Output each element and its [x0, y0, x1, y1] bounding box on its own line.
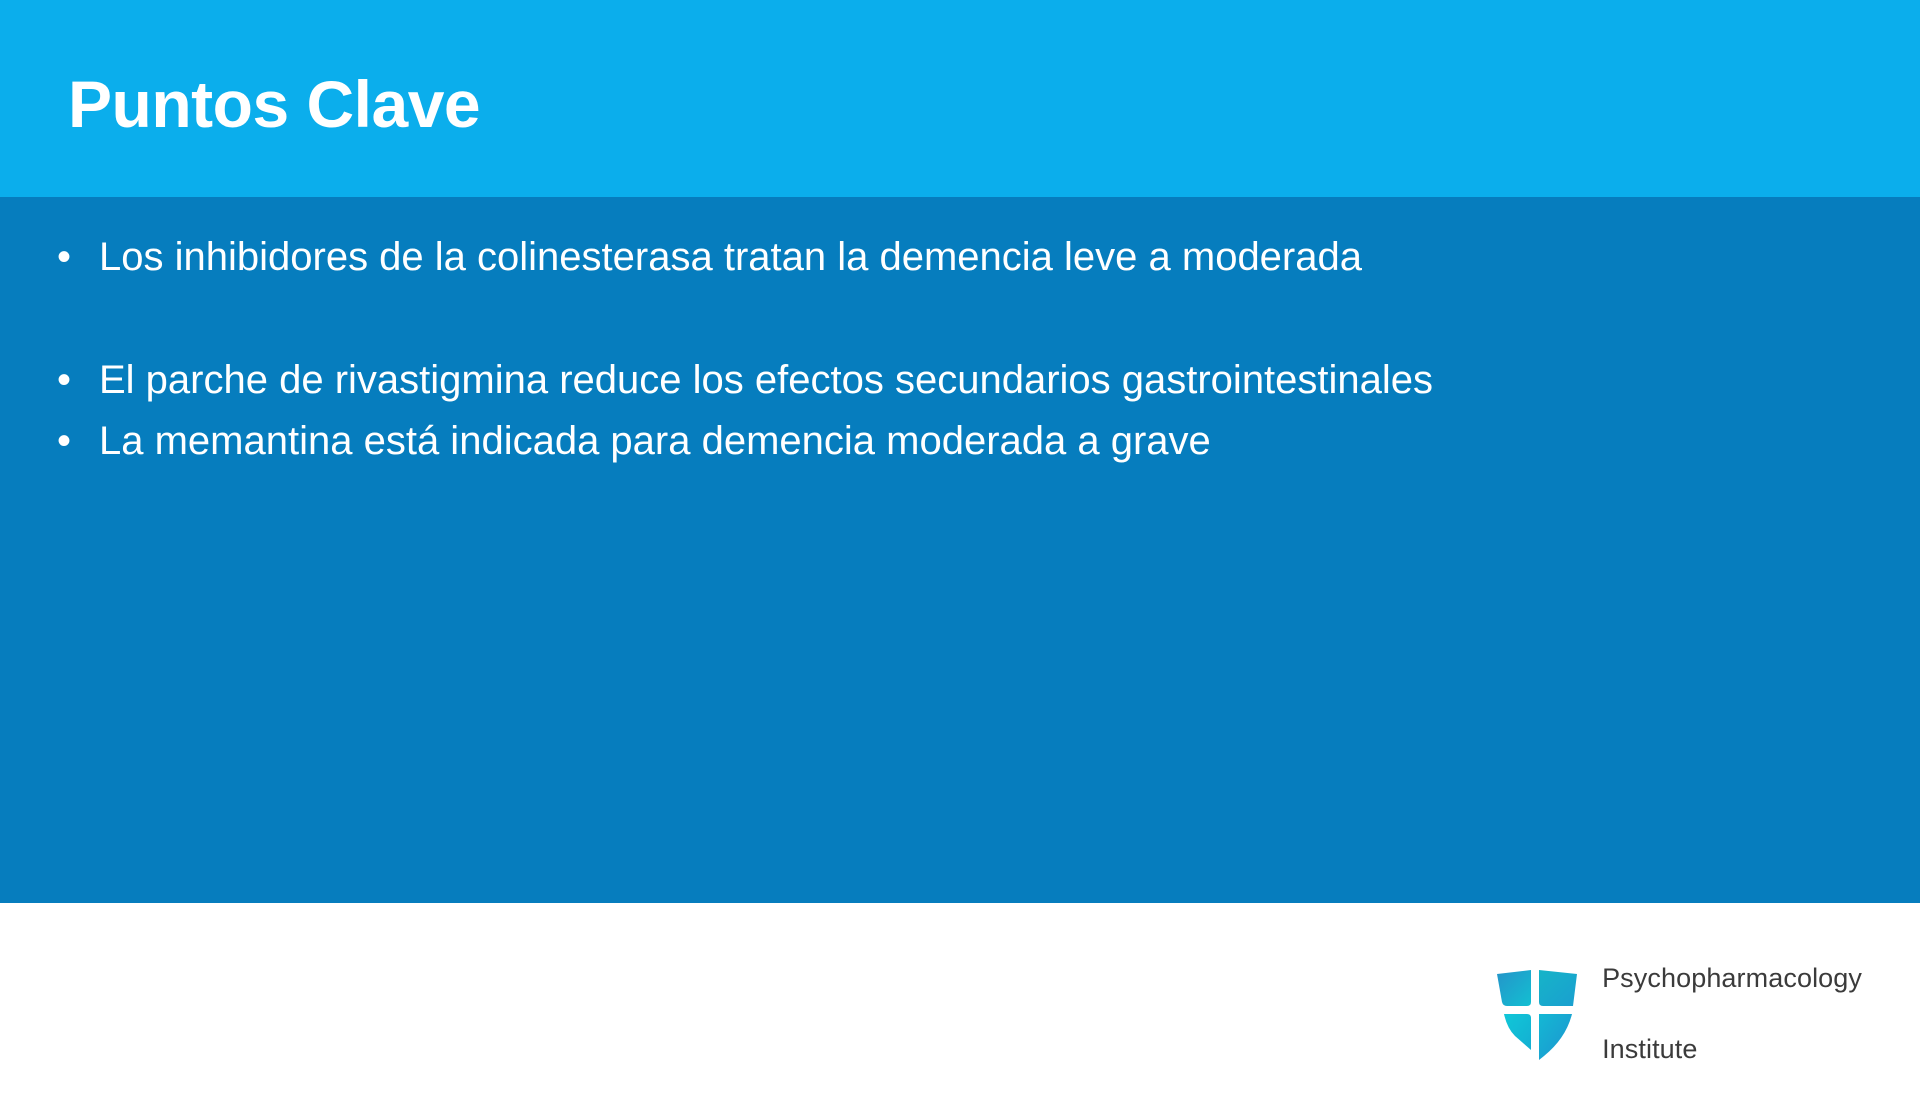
key-points-list: •Los inhibidores de la colinesterasa tra… [57, 227, 1800, 471]
slide: Puntos Clave •Los inhibidores de la coli… [0, 0, 1920, 1080]
bullet-marker-icon: • [57, 360, 99, 400]
slide-body: •Los inhibidores de la colinesterasa tra… [0, 197, 1920, 903]
list-item-text: La memantina está indicada para demencia… [99, 419, 1211, 463]
list-item-text: Los inhibidores de la colinesterasa trat… [99, 235, 1362, 279]
list-item: •El parche de rivastigmina reduce los ef… [57, 350, 1800, 411]
brand-name-line1: Psychopharmacology [1602, 961, 1862, 997]
list-spacer [57, 288, 1800, 350]
shield-icon [1494, 962, 1580, 1066]
brand-name-line2: Institute [1602, 1032, 1862, 1068]
slide-footer: Psychopharmacology Institute [0, 903, 1920, 1080]
brand-logo: Psychopharmacology Institute [1494, 925, 1862, 1103]
bullet-marker-icon: • [57, 237, 99, 277]
page-title: Puntos Clave [0, 70, 480, 139]
bullet-marker-icon: • [57, 421, 99, 461]
slide-header: Puntos Clave [0, 0, 1920, 197]
list-item: •Los inhibidores de la colinesterasa tra… [57, 227, 1800, 288]
list-item-text: El parche de rivastigmina reduce los efe… [99, 358, 1433, 402]
brand-name: Psychopharmacology Institute [1602, 925, 1862, 1103]
list-item: •La memantina está indicada para demenci… [57, 411, 1800, 472]
